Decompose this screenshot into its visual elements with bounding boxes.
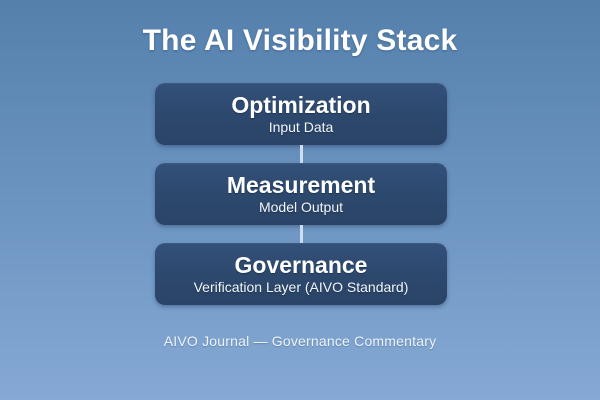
layer-subtitle: Model Output (259, 200, 343, 215)
layer-title: Optimization (231, 93, 370, 117)
connector-stroke (300, 145, 303, 163)
connector-line (155, 225, 447, 243)
layer-stack: Optimization Input Data Measurement Mode… (155, 83, 447, 305)
footer-caption: AIVO Journal — Governance Commentary (0, 333, 600, 349)
layer-title: Governance (235, 253, 368, 277)
connector-stroke (300, 225, 303, 243)
page-title: The AI Visibility Stack (0, 24, 600, 58)
connector-line (155, 145, 447, 163)
layer-box-measurement[interactable]: Measurement Model Output (155, 163, 447, 225)
diagram-canvas: The AI Visibility Stack Optimization Inp… (0, 0, 600, 400)
layer-subtitle: Input Data (269, 120, 334, 135)
layer-subtitle: Verification Layer (AIVO Standard) (194, 280, 409, 295)
layer-title: Measurement (227, 173, 375, 197)
layer-box-optimization[interactable]: Optimization Input Data (155, 83, 447, 145)
layer-box-governance[interactable]: Governance Verification Layer (AIVO Stan… (155, 243, 447, 305)
